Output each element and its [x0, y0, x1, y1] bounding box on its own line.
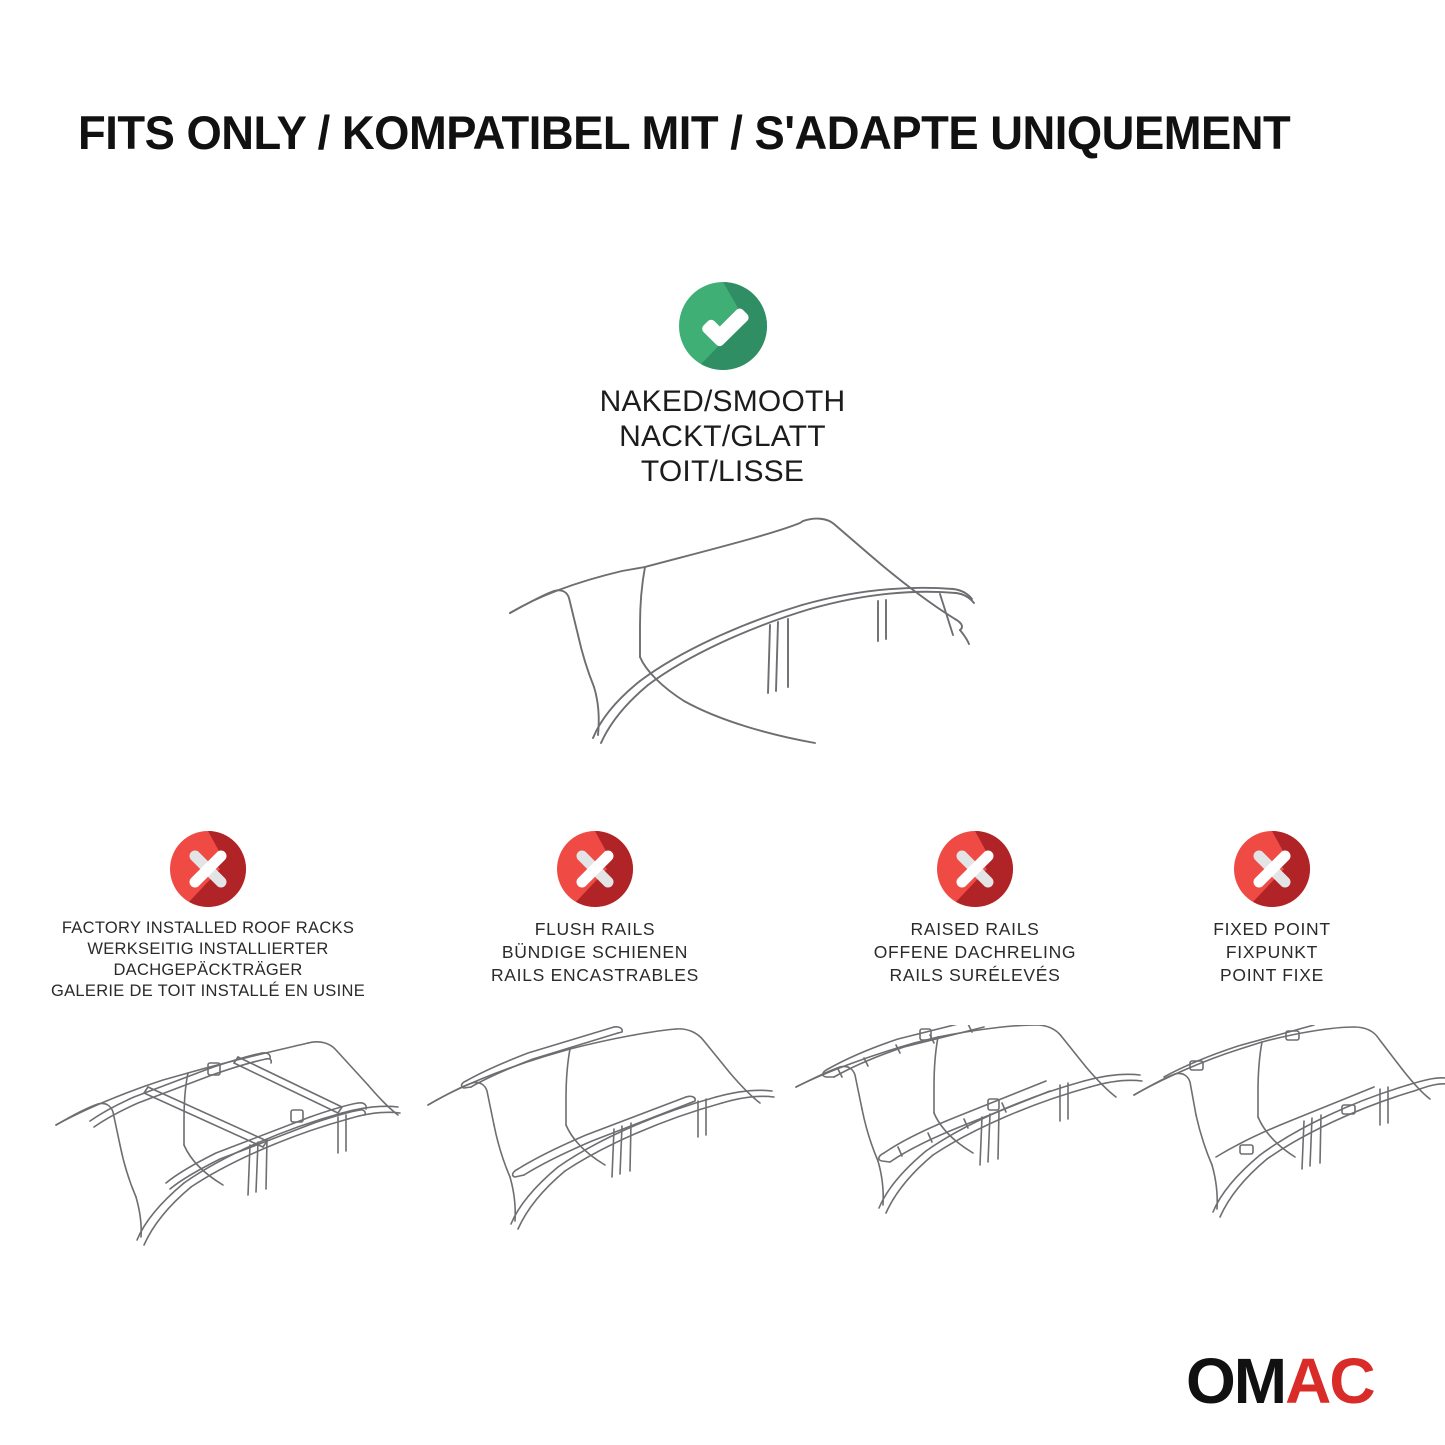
incompatible-item-factory-roof-rack: FACTORY INSTALLED ROOF RACKS WERKSEITIG … [18, 828, 398, 1002]
incompatible-label-4-en: FIXED POINT [1122, 918, 1422, 941]
incompatible-label-3-fr: RAILS SURÉLEVÉS [785, 964, 1165, 987]
incompatible-label-4: FIXED POINT FIXPUNKT POINT FIXE [1122, 918, 1422, 986]
logo-text-ac: AC [1285, 1345, 1373, 1417]
compatible-label: NAKED/SMOOTH NACKT/GLATT TOIT/LISSE [0, 384, 1445, 489]
incompatible-label-2: FLUSH RAILS BÜNDIGE SCHIENEN RAILS ENCAS… [405, 918, 785, 986]
x-circle-icon [1231, 828, 1313, 910]
incompatible-label-2-de: BÜNDIGE SCHIENEN [405, 941, 785, 964]
incompatible-label-1: FACTORY INSTALLED ROOF RACKS WERKSEITIG … [18, 918, 398, 1002]
incompatible-item-fixed-point: FIXED POINT FIXPUNKT POINT FIXE [1122, 828, 1422, 986]
logo-text-om: OM [1186, 1345, 1285, 1417]
page-title: FITS ONLY / KOMPATIBEL MIT / S'ADAPTE UN… [78, 108, 1290, 157]
incompatible-label-3-en: RAISED RAILS [785, 918, 1165, 941]
car-roof-factory-roof-rack-illustration [38, 1025, 408, 1255]
x-circle-icon [167, 828, 249, 910]
compatible-label-fr: TOIT/LISSE [0, 454, 1445, 489]
incompatible-item-flush-rails: FLUSH RAILS BÜNDIGE SCHIENEN RAILS ENCAS… [405, 828, 785, 986]
car-roof-fixed-point-illustration [1128, 1025, 1445, 1255]
check-circle-icon [675, 278, 771, 374]
compatible-label-en: NAKED/SMOOTH [0, 384, 1445, 419]
car-roof-naked-smooth-illustration [470, 495, 990, 755]
incompatible-label-1-en: FACTORY INSTALLED ROOF RACKS [18, 918, 398, 939]
compatibility-infographic: FITS ONLY / KOMPATIBEL MIT / S'ADAPTE UN… [0, 0, 1445, 1445]
car-roof-flush-rails-illustration [418, 1025, 788, 1255]
compatible-label-de: NACKT/GLATT [0, 419, 1445, 454]
car-roof-raised-rails-illustration [788, 1025, 1158, 1255]
incompatible-label-3-de: OFFENE DACHRELING [785, 941, 1165, 964]
incompatible-label-4-fr: POINT FIXE [1122, 964, 1422, 987]
incompatible-label-1-de2: DACHGEPÄCKTRÄGER [18, 960, 398, 981]
x-circle-icon [554, 828, 636, 910]
incompatible-label-2-en: FLUSH RAILS [405, 918, 785, 941]
compatible-section: NAKED/SMOOTH NACKT/GLATT TOIT/LISSE [0, 278, 1445, 489]
x-circle-icon [934, 828, 1016, 910]
incompatible-label-3: RAISED RAILS OFFENE DACHRELING RAILS SUR… [785, 918, 1165, 986]
incompatible-item-raised-rails: RAISED RAILS OFFENE DACHRELING RAILS SUR… [785, 828, 1165, 986]
incompatible-label-1-de1: WERKSEITIG INSTALLIERTER [18, 939, 398, 960]
omac-logo: OMAC [1186, 1349, 1374, 1413]
incompatible-label-2-fr: RAILS ENCASTRABLES [405, 964, 785, 987]
incompatible-label-4-de: FIXPUNKT [1122, 941, 1422, 964]
incompatible-label-1-fr: GALERIE DE TOIT INSTALLÉ EN USINE [18, 981, 398, 1002]
